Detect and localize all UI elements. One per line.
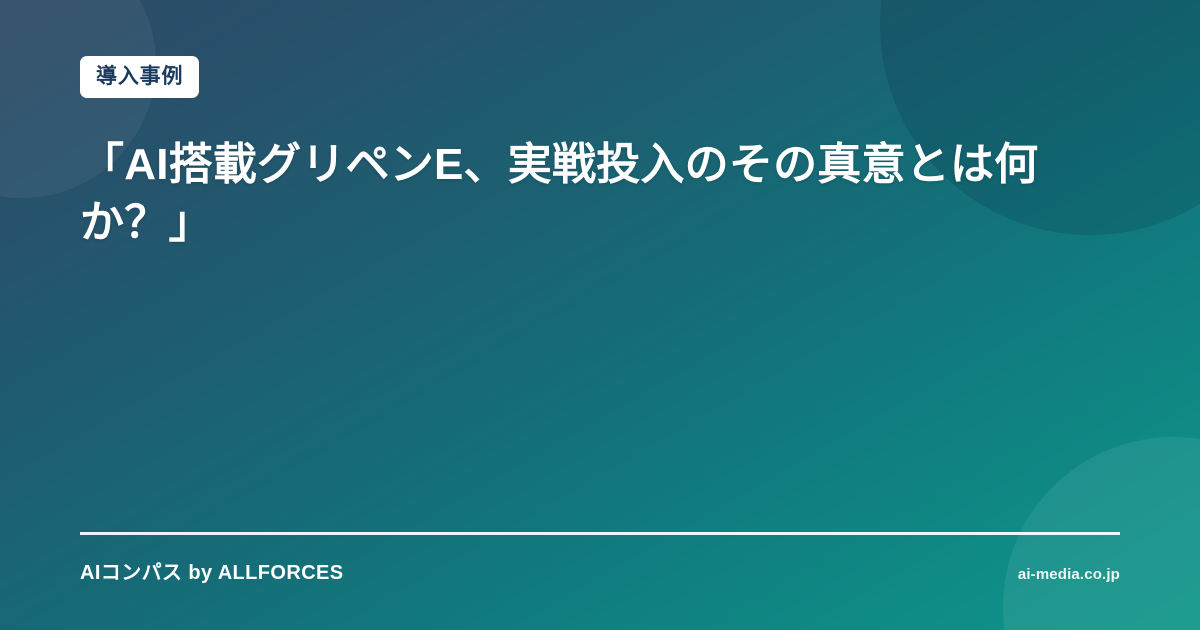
- footer-divider: [80, 532, 1120, 535]
- og-share-card: 導入事例 「AI搭載グリペンE、実戦投入のその真意とは何か？」 AIコンパス b…: [0, 0, 1200, 630]
- category-badge: 導入事例: [80, 56, 199, 98]
- brand-name: AIコンパス by ALLFORCES: [80, 556, 344, 585]
- footer-row: AIコンパス by ALLFORCES ai-media.co.jp: [80, 556, 1120, 585]
- site-url: ai-media.co.jp: [1018, 566, 1120, 583]
- card-footer: AIコンパス by ALLFORCES ai-media.co.jp: [80, 532, 1120, 585]
- article-title: 「AI搭載グリペンE、実戦投入のその真意とは何か？」: [80, 136, 1120, 252]
